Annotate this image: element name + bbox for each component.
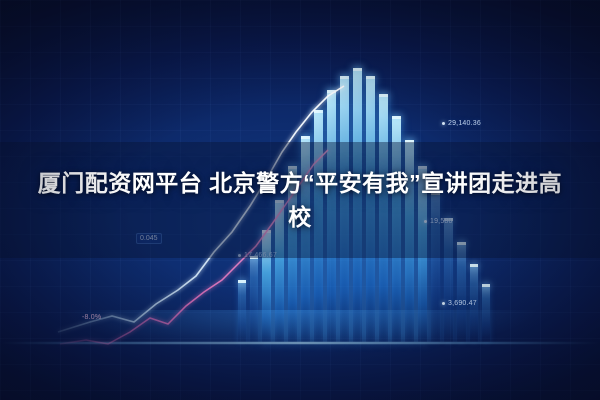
promo-image: 29,140.36 19,580 3,690.47 17,466.67 -8.0… bbox=[0, 0, 600, 400]
annotation-dot-icon bbox=[442, 302, 445, 305]
annotation-dot-icon bbox=[442, 122, 445, 125]
annotation-29140: 29,140.36 bbox=[442, 120, 481, 127]
annotation-minus-8-percent: -8.0% bbox=[82, 314, 101, 321]
annotation-3690: 3,690.47 bbox=[442, 300, 477, 307]
headline-text: 厦门配资网平台 北京警方“平安有我”宣讲团走进高校 bbox=[30, 166, 570, 235]
headline: 厦门配资网平台 北京警方“平安有我”宣讲团走进高校 bbox=[0, 142, 600, 258]
